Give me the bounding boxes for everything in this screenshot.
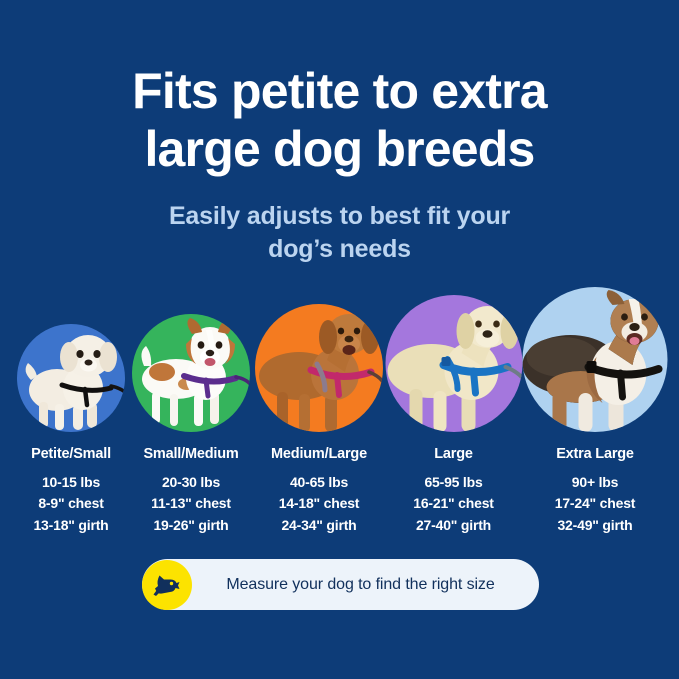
size-column-small-medium: Small/Medium 20-30 lbs 11-13" chest 19-2… — [131, 286, 251, 536]
headline-line-1: Fits petite to extra — [95, 62, 584, 120]
size-chart-row: Petite/Small 10-15 lbs 8-9" chest 13-18"… — [0, 286, 679, 536]
dog-photo-petite-small — [17, 324, 125, 432]
subtitle-line-2: dog’s needs — [140, 233, 539, 266]
size-label: Large — [385, 446, 522, 462]
page-headline: Fits petite to extra large dog breeds — [0, 62, 679, 178]
headline-line-2: large dog breeds — [95, 120, 584, 178]
spec-girth: 19-26" girth — [131, 515, 251, 536]
spec-weight: 10-15 lbs — [0, 472, 142, 493]
size-label: Medium/Large — [255, 446, 383, 462]
spec-weight: 90+ lbs — [526, 472, 664, 493]
callout-label: Measure your dog to find the right size — [192, 576, 539, 594]
spec-girth: 27-40" girth — [385, 515, 522, 536]
size-label: Extra Large — [526, 446, 664, 462]
subtitle-line-1: Easily adjusts to best fit your — [140, 200, 539, 233]
spec-chest: 14-18" chest — [255, 493, 383, 514]
spec-weight: 20-30 lbs — [131, 472, 251, 493]
spec-girth: 24-34" girth — [255, 515, 383, 536]
size-specs: 90+ lbs 17-24" chest 32-49" girth — [526, 472, 664, 536]
page-subtitle: Easily adjusts to best fit your dog’s ne… — [0, 200, 679, 266]
size-column-petite-small: Petite/Small 10-15 lbs 8-9" chest 13-18"… — [0, 286, 142, 536]
spec-girth: 32-49" girth — [526, 515, 664, 536]
size-column-medium-large: Medium/Large 40-65 lbs 14-18" chest 24-3… — [255, 286, 383, 536]
size-photo-wrap — [132, 314, 250, 432]
size-photo-wrap — [17, 324, 125, 432]
spec-chest: 11-13" chest — [131, 493, 251, 514]
dog-photo-medium-large — [255, 304, 383, 432]
size-specs: 65-95 lbs 16-21" chest 27-40" girth — [385, 472, 522, 536]
size-label: Petite/Small — [0, 446, 142, 462]
spec-girth: 13-18" girth — [0, 515, 142, 536]
dog-photo-small-medium — [132, 314, 250, 432]
dog-head-icon — [142, 560, 192, 610]
measure-callout[interactable]: Measure your dog to find the right size — [142, 559, 539, 610]
dog-photo-extra-large — [523, 287, 668, 432]
spec-weight: 40-65 lbs — [255, 472, 383, 493]
spec-weight: 65-95 lbs — [385, 472, 522, 493]
size-photo-wrap — [523, 287, 668, 432]
size-photo-wrap — [255, 304, 383, 432]
spec-chest: 8-9" chest — [0, 493, 142, 514]
size-specs: 40-65 lbs 14-18" chest 24-34" girth — [255, 472, 383, 536]
dog-photo-large — [385, 295, 522, 432]
size-label: Small/Medium — [131, 446, 251, 462]
spec-chest: 16-21" chest — [385, 493, 522, 514]
size-specs: 10-15 lbs 8-9" chest 13-18" girth — [0, 472, 142, 536]
size-column-large: Large 65-95 lbs 16-21" chest 27-40" girt… — [385, 286, 522, 536]
size-column-extra-large: Extra Large 90+ lbs 17-24" chest 32-49" … — [526, 286, 664, 536]
spec-chest: 17-24" chest — [526, 493, 664, 514]
size-specs: 20-30 lbs 11-13" chest 19-26" girth — [131, 472, 251, 536]
size-photo-wrap — [385, 295, 522, 432]
